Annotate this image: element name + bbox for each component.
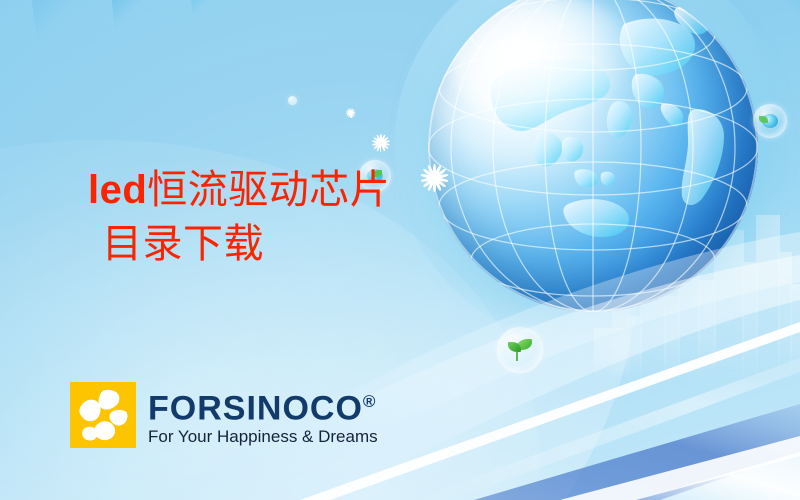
bubble-tiny — [288, 96, 297, 105]
mini-globe-leaf-right — [759, 116, 768, 123]
headline-line-2: 目录下载 — [88, 217, 390, 270]
headline-cjk-part: 恒流驱动芯片 — [147, 167, 390, 212]
promo-banner: led恒流驱动芯片 目录下载 FORSINOCO® For Your Happi… — [0, 0, 800, 500]
sprout-stem-icon — [516, 347, 518, 361]
sparkle-icon-medium — [371, 133, 390, 152]
pinwheel-petals-icon — [70, 382, 136, 448]
bubble-with-sprout — [497, 327, 543, 373]
sparkle-center — [431, 175, 436, 180]
bubble-with-mini-globe-right — [753, 104, 787, 138]
logo-text-block: FORSINOCO® For Your Happiness & Dreams — [148, 382, 378, 447]
headline-block: led恒流驱动芯片 目录下载 — [88, 163, 390, 270]
four-petal-pinwheel-icon — [70, 382, 136, 448]
globe-sphere — [428, 0, 758, 312]
skyline-building — [790, 284, 800, 380]
brand-name: FORSINOCO® — [148, 384, 378, 426]
globe-highlight — [450, 0, 640, 129]
headline-line-1: led恒流驱动芯片 — [88, 163, 390, 217]
brand-tagline: For Your Happiness & Dreams — [148, 427, 378, 447]
headline-latin-prefix: led — [88, 168, 147, 212]
registered-trademark-icon: ® — [363, 392, 376, 411]
globe-graphic — [428, 0, 758, 312]
company-logo[interactable]: FORSINOCO® For Your Happiness & Dreams — [70, 382, 378, 448]
sparkle-center — [350, 112, 352, 114]
sparkle-icon-large — [419, 163, 449, 193]
brand-word: FORSINOCO — [148, 389, 363, 427]
sparkle-icon-small — [346, 108, 356, 118]
